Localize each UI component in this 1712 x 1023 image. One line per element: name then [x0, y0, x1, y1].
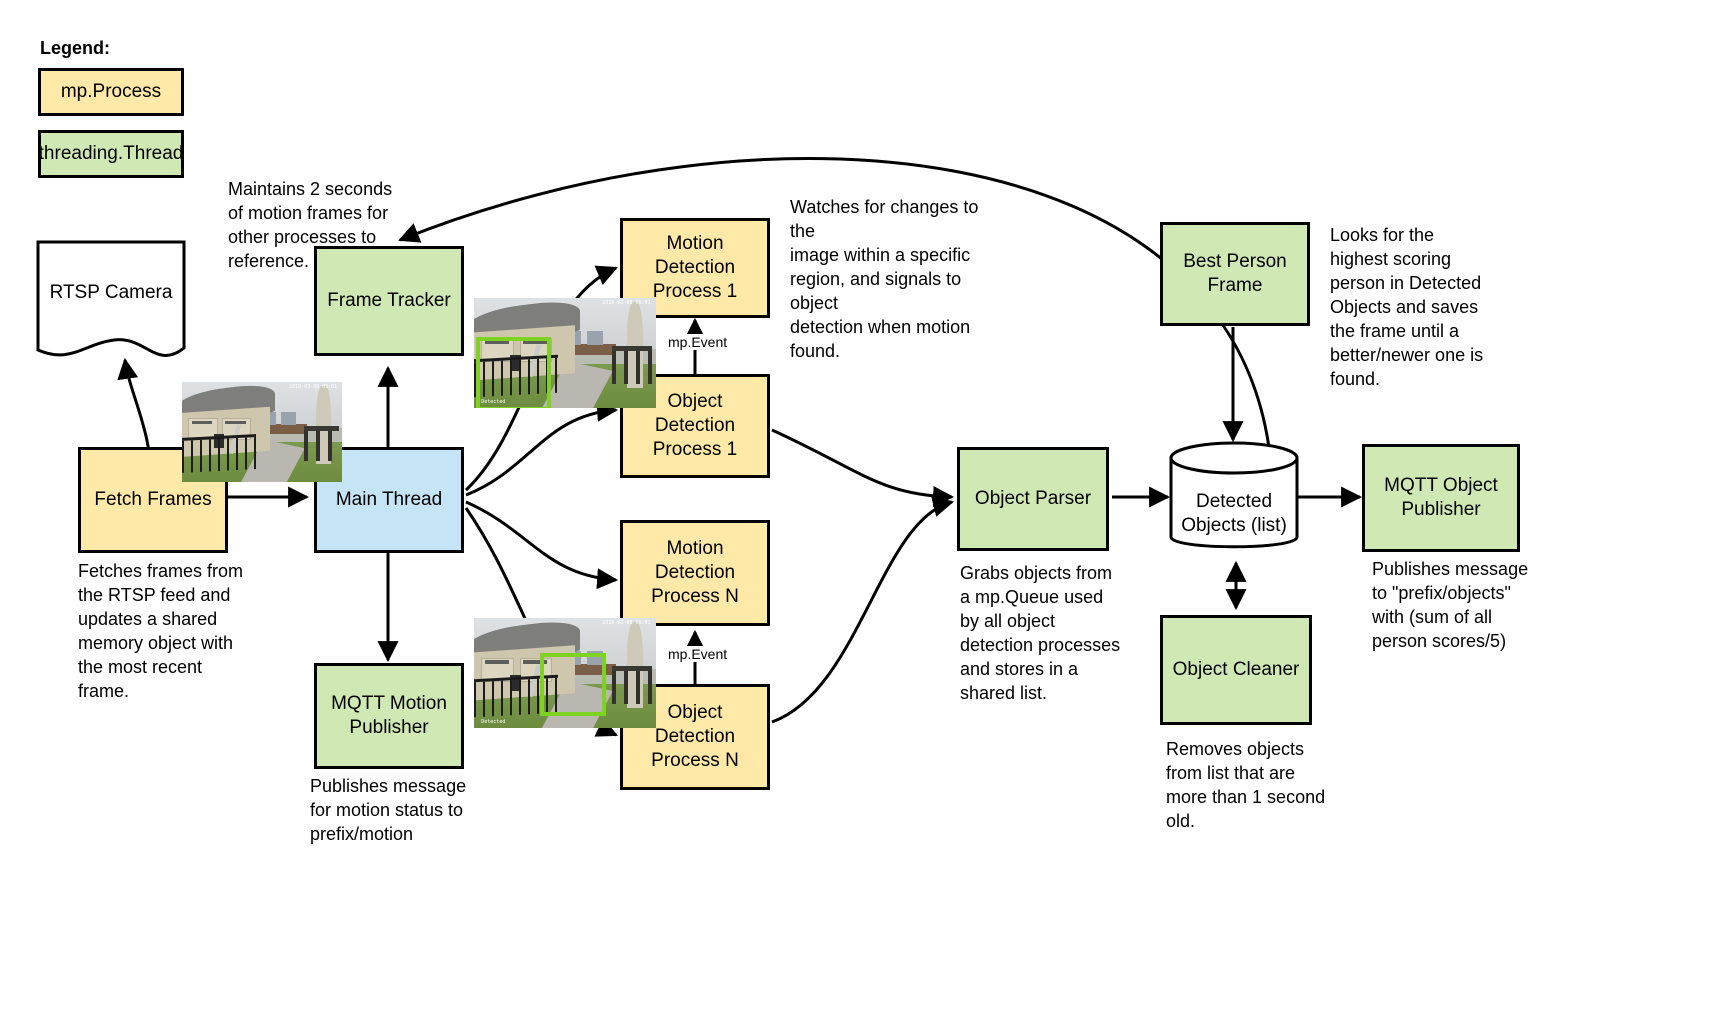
legend-swatch-process: mp.Process [38, 68, 184, 116]
node-main-thread-label: Main Thread [330, 486, 448, 514]
caption-fetch-frames: Fetches frames from the RTSP feed and up… [78, 560, 248, 704]
node-fetch-frames-label: Fetch Frames [88, 486, 217, 514]
thumbnail-neighbor-house-2 [281, 412, 295, 425]
node-object-cleaner-label: Object Cleaner [1167, 656, 1306, 684]
node-object-cleaner: Object Cleaner [1160, 615, 1312, 725]
node-detected-objects: Detected Objects (list) [1168, 440, 1300, 555]
node-rtsp-camera-label: RTSP Camera [36, 282, 186, 304]
thumbnail-window-1 [485, 660, 509, 664]
edge-main-to-motionN [466, 502, 616, 580]
legend-swatch-thread: threading.Thread [38, 130, 184, 178]
node-mqtt-object-publisher-label: MQTT Object Publisher [1378, 472, 1504, 525]
thumbnail-porch-rail [304, 426, 339, 461]
legend-label-process: mp.Process [55, 78, 167, 106]
thumbnail-timestamp: 2018-03-08 09:01 [289, 384, 337, 390]
camera-thumbnail-detection-1: 2018-03-08 09:01 Detected [474, 298, 656, 408]
thumbnail-window-1 [192, 421, 213, 425]
node-best-person-frame-label: Best Person Frame [1177, 248, 1293, 301]
node-object-parser: Object Parser [957, 447, 1109, 551]
thumbnail-porch-rail [612, 346, 652, 384]
camera-thumbnail-detection-n: 2018-03-08 09:01 Detected [474, 618, 656, 728]
node-detected-objects-label: Detected Objects (list) [1168, 490, 1300, 539]
node-motion-detection-n-label: Motion Detection Process N [623, 535, 767, 612]
node-motion-detection-n: Motion Detection Process N [620, 520, 770, 626]
detection-bounding-box [540, 653, 606, 716]
caption-best-person-frame: Looks for the highest scoring person in … [1330, 224, 1510, 392]
detection-bounding-box [476, 337, 551, 409]
edge-objectN-to-parser [772, 502, 952, 722]
legend-title: Legend: [40, 38, 110, 59]
edge-main-to-object1 [466, 410, 616, 495]
thumbnail-neighbor-house-2 [587, 331, 603, 345]
node-rtsp-camera: RTSP Camera [36, 240, 186, 362]
caption-frame-tracker: Maintains 2 seconds of motion frames for… [228, 178, 398, 274]
thumbnail-fence [182, 434, 256, 473]
thumbnail-timestamp: 2018-03-08 09:01 [602, 620, 650, 626]
caption-object-cleaner: Removes objects from list that are more … [1166, 738, 1346, 834]
camera-thumbnail-source: 2018-03-08 09:01 [182, 382, 342, 482]
thumbnail-timestamp: 2018-03-08 09:01 [602, 300, 650, 306]
edge-label-mp-event-bottom: mp.Event [666, 646, 729, 662]
caption-motion-detection: Watches for changes to the image within … [790, 196, 1005, 364]
diagram-canvas: Legend: mp.Process threading.Thread RTSP… [0, 0, 1712, 1023]
legend-label-thread: threading.Thread [33, 140, 190, 168]
thumbnail-porch-rail [612, 666, 652, 704]
node-frame-tracker-label: Frame Tracker [321, 287, 457, 315]
caption-mqtt-object-publisher: Publishes message to "prefix/objects" wi… [1372, 558, 1562, 654]
node-best-person-frame: Best Person Frame [1160, 222, 1310, 326]
node-object-parser-label: Object Parser [969, 485, 1097, 513]
node-mqtt-motion-publisher-label: MQTT Motion Publisher [325, 690, 453, 743]
thumbnail-window-2 [225, 421, 246, 425]
node-mqtt-object-publisher: MQTT Object Publisher [1362, 444, 1520, 552]
node-mqtt-motion-publisher: MQTT Motion Publisher [314, 663, 464, 769]
node-motion-detection-1-label: Motion Detection Process 1 [623, 230, 767, 307]
edge-object1-to-parser [772, 430, 952, 497]
caption-mqtt-motion-publisher: Publishes message for motion status to p… [310, 775, 490, 847]
thumbnail-watermark: Detected [481, 719, 505, 725]
edge-label-mp-event-top: mp.Event [666, 334, 729, 350]
caption-object-parser: Grabs objects from a mp.Queue used by al… [960, 562, 1140, 706]
